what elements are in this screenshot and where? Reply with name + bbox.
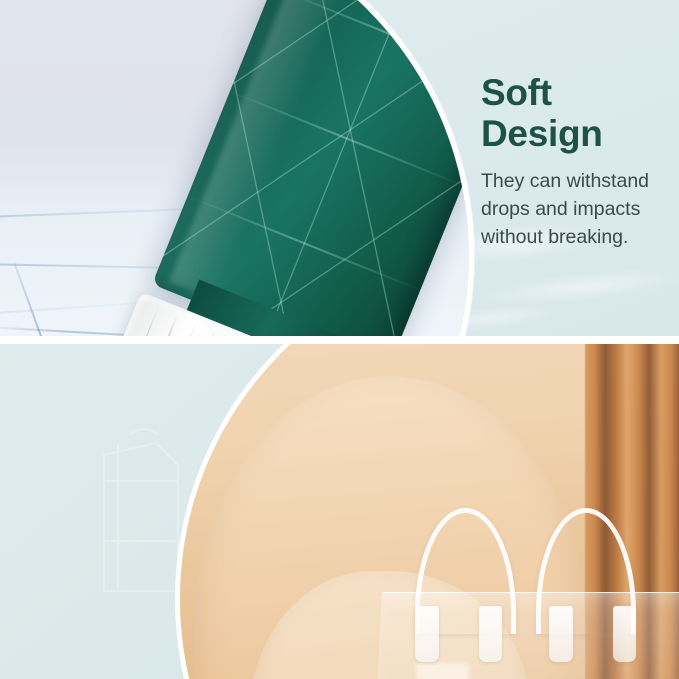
panel-divider xyxy=(0,336,679,344)
product-feature-sheet: Soft Design They can withstand drops and… xyxy=(0,0,679,679)
transparent-tote-bag: iPhone xyxy=(368,515,679,679)
circular-photo-soft-design xyxy=(0,0,474,338)
headline-line-1: Soft xyxy=(481,72,552,113)
headline-soft-design: Soft Design xyxy=(481,72,671,154)
body-text-soft-design: They can withstand drops and impacts wit… xyxy=(481,167,671,251)
bag-shoulder-strap xyxy=(355,599,679,679)
shattered-glass-scene xyxy=(0,0,469,338)
panel-portable-design: iPhone Portable Design They ca xyxy=(0,341,679,679)
crack-ray xyxy=(13,262,87,338)
circular-photo-portable-design: iPhone xyxy=(175,341,679,679)
cap-rib xyxy=(125,307,159,338)
panel-soft-design: Soft Design They can withstand drops and… xyxy=(0,0,679,338)
copy-block-soft-design: Soft Design They can withstand drops and… xyxy=(481,72,671,251)
room-scene: iPhone xyxy=(180,341,679,679)
silicone-travel-bottle xyxy=(85,0,474,338)
headline-line-2: Design xyxy=(481,113,603,154)
